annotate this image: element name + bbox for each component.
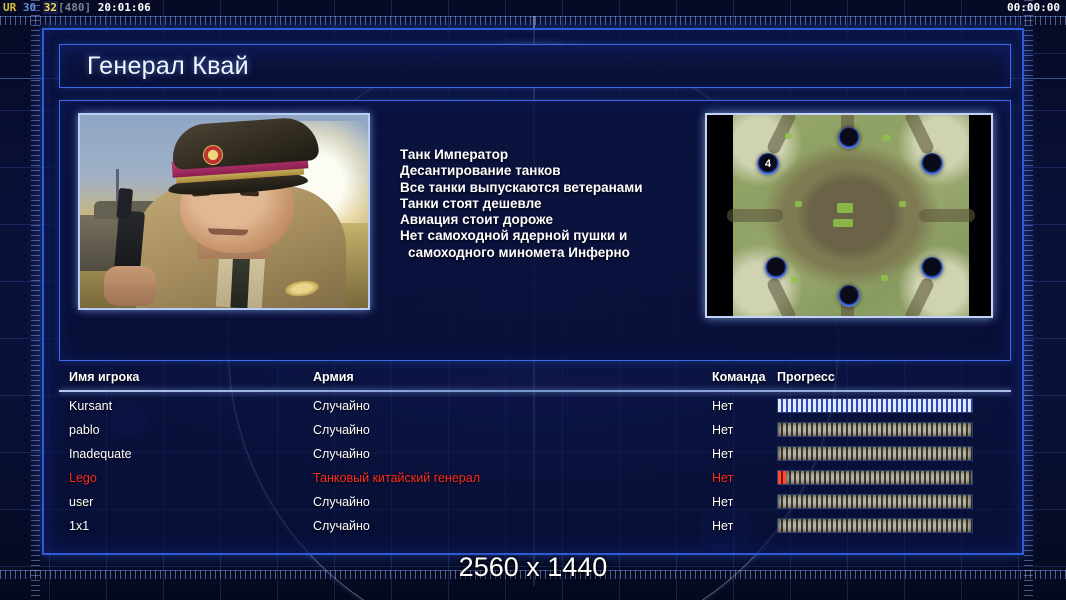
- osd-clock-left: 20:01:06: [98, 1, 151, 14]
- main-panel: Генерал Квай: [42, 28, 1024, 555]
- table-row[interactable]: LegoТанковый китайский генералНет: [59, 466, 1011, 490]
- progress-bar: [777, 494, 973, 509]
- osd-value1: 30: [23, 1, 36, 14]
- progress-bar-fill: [778, 519, 972, 532]
- map-veg-right: [899, 201, 906, 207]
- cell-player-name: Inadequate: [69, 442, 132, 466]
- map-veg-tr: [883, 135, 890, 141]
- ruler-left: [31, 0, 40, 600]
- table-row[interactable]: KursantСлучайноНет: [59, 394, 1011, 418]
- osd-bar: UR 30 32[480] 20:01:06 00:00:00: [0, 0, 1066, 15]
- table-row[interactable]: pabloСлучайноНет: [59, 418, 1011, 442]
- progress-bar: [777, 398, 973, 413]
- map-spoke-6: [919, 209, 975, 222]
- page-title: Генерал Квай: [87, 52, 249, 81]
- progress-bar-fill: [778, 495, 972, 508]
- progress-bar: [777, 422, 973, 437]
- description-line-7: самоходного миномета Инферно: [400, 245, 690, 261]
- osd-clock-right: 00:00:00: [1007, 0, 1060, 15]
- description-line-2: Десантирование танков: [400, 163, 690, 179]
- ruler-right: [1024, 0, 1033, 600]
- cell-player-name: 1x1: [69, 514, 89, 538]
- progress-bar-lead: [778, 471, 786, 484]
- header-player-name: Имя игрока: [69, 370, 139, 384]
- progress-bar-fill: [778, 447, 972, 460]
- cell-army[interactable]: Случайно: [313, 490, 370, 514]
- map-spawn-bottom[interactable]: [838, 285, 860, 307]
- osd-bracket: [480]: [58, 1, 91, 14]
- player-table: Имя игрока Армия Команда Прогресс Kursan…: [59, 370, 1011, 540]
- table-row[interactable]: userСлучайноНет: [59, 490, 1011, 514]
- general-description: Танк Император Десантирование танков Все…: [400, 147, 690, 261]
- map-spawn-top-right[interactable]: [921, 153, 943, 175]
- description-line-3: Все танки выпускаются ветеранами: [400, 180, 690, 196]
- cell-player-name: Lego: [69, 466, 97, 490]
- progress-bar-fill: [786, 471, 972, 484]
- progress-bar: [777, 446, 973, 461]
- osd-label: UR: [3, 1, 16, 14]
- title-bar: Генерал Квай: [59, 44, 1011, 88]
- map-veg-left: [795, 201, 802, 207]
- map-spawn-bottom-left[interactable]: [765, 257, 787, 279]
- cell-team[interactable]: Нет: [712, 418, 733, 442]
- general-portrait: [78, 113, 370, 310]
- table-row[interactable]: 1x1СлучайноНет: [59, 514, 1011, 538]
- ruler-top: [0, 16, 1066, 25]
- map-spawn-bottom-right[interactable]: [921, 257, 943, 279]
- header-army: Армия: [313, 370, 354, 384]
- map-center-veg-2: [833, 219, 853, 227]
- portrait-cap-emblem: [203, 145, 223, 165]
- map-center-veg-1: [837, 203, 853, 213]
- map-spoke-5: [727, 209, 783, 222]
- cell-player-name: Kursant: [69, 394, 112, 418]
- map-veg-br: [881, 275, 888, 281]
- cell-player-name: user: [69, 490, 93, 514]
- map-veg-bl: [791, 277, 798, 283]
- osd-left-group: UR 30 32[480] 20:01:06: [3, 0, 151, 15]
- map-spoke-4: [904, 276, 936, 318]
- cell-team[interactable]: Нет: [712, 394, 733, 418]
- screen-root: UR 30 32[480] 20:01:06 00:00:00 Генерал …: [0, 0, 1066, 600]
- portrait-hand: [104, 266, 156, 306]
- description-line-4: Танки стоят дешевле: [400, 196, 690, 212]
- cell-team[interactable]: Нет: [712, 466, 733, 490]
- map-spawn-top-left[interactable]: 4: [757, 153, 779, 175]
- progress-bar: [777, 470, 973, 485]
- table-header-row: Имя игрока Армия Команда Прогресс: [59, 370, 1011, 390]
- cell-army[interactable]: Танковый китайский генерал: [313, 466, 480, 490]
- cell-army[interactable]: Случайно: [313, 418, 370, 442]
- map-preview[interactable]: 4: [705, 113, 993, 318]
- table-body: KursantСлучайноНетpabloСлучайноНетInadeq…: [59, 394, 1011, 538]
- table-header-divider: [59, 390, 1011, 392]
- description-line-6: Нет самоходной ядерной пушки и: [400, 228, 690, 244]
- map-veg-tl: [785, 133, 792, 139]
- resolution-overlay: 2560 x 1440: [0, 552, 1066, 583]
- table-row[interactable]: InadequateСлучайноНет: [59, 442, 1011, 466]
- general-info-box: Танк Император Десантирование танков Все…: [59, 100, 1011, 361]
- map-spoke-1: [766, 113, 798, 156]
- header-team: Команда: [712, 370, 766, 384]
- osd-value2: 32: [43, 1, 58, 14]
- description-line-5: Авиация стоит дороже: [400, 212, 690, 228]
- description-line-1: Танк Император: [400, 147, 690, 163]
- header-progress: Прогресс: [777, 370, 835, 384]
- map-spawn-top[interactable]: [838, 127, 860, 149]
- map-terrain: 4: [733, 115, 969, 316]
- cell-team[interactable]: Нет: [712, 514, 733, 538]
- cell-army[interactable]: Случайно: [313, 442, 370, 466]
- cell-player-name: pablo: [69, 418, 100, 442]
- cell-team[interactable]: Нет: [712, 490, 733, 514]
- map-spoke-2: [904, 113, 936, 156]
- portrait-art: [80, 115, 368, 308]
- progress-bar: [777, 518, 973, 533]
- progress-bar-fill: [778, 399, 972, 412]
- cell-team[interactable]: Нет: [712, 442, 733, 466]
- cell-army[interactable]: Случайно: [313, 394, 370, 418]
- cell-army[interactable]: Случайно: [313, 514, 370, 538]
- progress-bar-fill: [778, 423, 972, 436]
